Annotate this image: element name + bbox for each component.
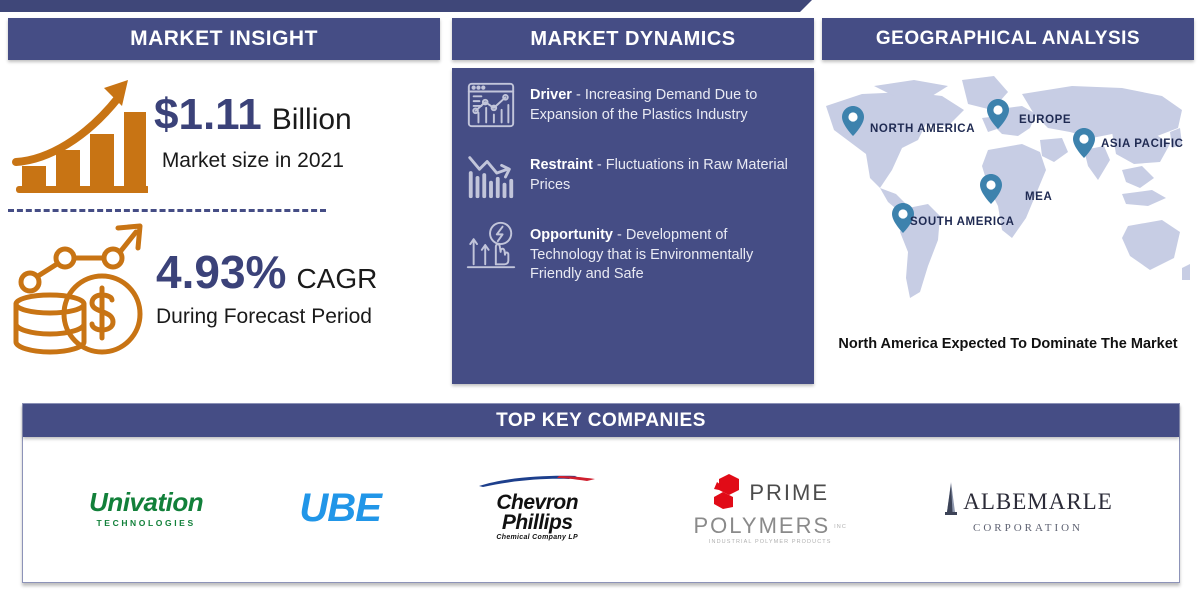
market-size-text: $1.11 Billion Market size in 2021	[148, 93, 352, 173]
world-map: NORTH AMERICA EUROPE ASIA PACIFIC MEA SO…	[822, 66, 1194, 334]
chevron-subtitle: Chemical Company LP	[496, 534, 578, 541]
dynamics-driver-label: Driver	[530, 87, 572, 103]
cagr-value-row: 4.93% CAGR	[156, 249, 377, 295]
rising-bar-chart-icon	[8, 66, 148, 199]
prime-hexagon-icon	[711, 472, 745, 515]
dynamics-restraint-text: Restraint - Fluctuations in Raw Material…	[530, 148, 802, 202]
top-key-companies-panel: TOP KEY COMPANIES Univation TECHNOLOGIES…	[22, 403, 1180, 583]
region-label-mea: MEA	[1025, 191, 1052, 203]
albemarle-monument-icon	[943, 482, 959, 521]
market-insight-title: MARKET INSIGHT	[8, 18, 440, 60]
ube-wordmark: UBE	[299, 488, 380, 528]
pin-asia-pacific-icon[interactable]	[1073, 128, 1095, 158]
company-logo-strip: Univation TECHNOLOGIES UBE Chevron Phill…	[23, 437, 1179, 579]
company-logo-prime-polymers[interactable]: PRIME POLYMERS INC INDUSTRIAL POLYMER PR…	[694, 462, 847, 554]
dynamics-opportunity-text: Opportunity - Development of Technology …	[530, 218, 802, 285]
company-logo-albemarle[interactable]: ALBEMARLE CORPORATION	[943, 462, 1113, 554]
cagr-caption: During Forecast Period	[156, 305, 377, 329]
pin-europe-icon[interactable]	[987, 99, 1009, 129]
market-size-caption: Market size in 2021	[154, 149, 352, 173]
geographical-analysis-panel: GEOGRAPHICAL ANALYSIS	[822, 18, 1194, 390]
univation-wordmark: Univation	[89, 489, 203, 515]
dynamics-item-driver: Driver - Increasing Demand Due to Expans…	[464, 78, 802, 132]
region-label-asia-pacific: ASIA PACIFIC	[1101, 138, 1184, 150]
market-dynamics-body: Driver - Increasing Demand Due to Expans…	[452, 68, 814, 384]
chevron-swoosh-icon	[477, 475, 597, 493]
albemarle-wordmark: ALBEMARLE	[963, 490, 1113, 513]
chevron-wordmark-line2: Phillips	[502, 513, 573, 533]
declining-bar-chart-icon	[464, 148, 518, 202]
polymers-suffix: INC	[834, 524, 847, 530]
chevron-wordmark-line1: Chevron	[496, 493, 578, 513]
albemarle-subtitle: CORPORATION	[973, 522, 1083, 534]
cagr-text: 4.93% CAGR During Forecast Period	[150, 249, 377, 329]
company-logo-univation[interactable]: Univation TECHNOLOGIES	[89, 462, 203, 554]
prime-wordmark: PRIME	[749, 482, 829, 504]
market-insight-panel: MARKET INSIGHT	[8, 18, 440, 390]
region-label-north-america: NORTH AMERICA	[870, 123, 975, 135]
prime-polymers-tagline: INDUSTRIAL POLYMER PRODUCTS	[709, 539, 832, 545]
market-dynamics-panel: MARKET DYNAMICS Driver - Increasin	[452, 18, 814, 390]
dynamics-item-restraint: Restraint - Fluctuations in Raw Material…	[464, 148, 802, 202]
dynamics-restraint-label: Restraint	[530, 157, 593, 173]
dynamics-driver-text: Driver - Increasing Demand Due to Expans…	[530, 78, 802, 132]
pin-north-america-icon[interactable]	[842, 106, 864, 136]
univation-subtitle: TECHNOLOGIES	[97, 518, 196, 528]
market-insight-body: $1.11 Billion Market size in 2021	[8, 60, 440, 361]
cagr-row: 4.93% CAGR During Forecast Period	[8, 216, 440, 361]
dynamics-opportunity-label: Opportunity	[530, 227, 613, 243]
geographical-analysis-title: GEOGRAPHICAL ANALYSIS	[822, 18, 1194, 60]
polymers-wordmark: POLYMERS	[694, 515, 831, 537]
dynamics-restraint-sep: -	[593, 157, 606, 173]
dynamics-driver-sep: -	[572, 87, 585, 103]
top-accent-banner	[0, 0, 800, 12]
market-dynamics-title: MARKET DYNAMICS	[452, 18, 814, 60]
region-label-europe: EUROPE	[1019, 114, 1071, 126]
market-size-value-row: $1.11 Billion	[154, 93, 352, 137]
section-divider	[8, 209, 326, 212]
company-logo-ube[interactable]: UBE	[299, 462, 380, 554]
dynamics-item-opportunity: Opportunity - Development of Technology …	[464, 218, 802, 285]
pin-mea-icon[interactable]	[980, 174, 1002, 204]
cagr-unit: CAGR	[296, 265, 377, 293]
prime-polymers-top-row: PRIME	[711, 472, 829, 515]
geographical-analysis-footnote: North America Expected To Dominate The M…	[822, 336, 1194, 352]
analytics-dashboard-icon	[464, 78, 518, 132]
market-size-row: $1.11 Billion Market size in 2021	[8, 66, 440, 199]
market-size-unit: Billion	[272, 105, 352, 135]
coins-growth-icon	[8, 216, 150, 361]
innovation-hand-idea-icon	[464, 218, 518, 272]
region-label-south-america: SOUTH AMERICA	[910, 216, 1014, 228]
cagr-value: 4.93%	[156, 249, 286, 295]
company-logo-chevron-phillips[interactable]: Chevron Phillips Chemical Company LP	[477, 462, 597, 554]
top-key-companies-title: TOP KEY COMPANIES	[23, 404, 1179, 437]
prime-polymers-bottom-row: POLYMERS INC	[694, 515, 847, 537]
albemarle-top-row: ALBEMARLE	[943, 482, 1113, 521]
dynamics-opportunity-sep: -	[613, 227, 626, 243]
market-size-value: $1.11	[154, 93, 262, 137]
